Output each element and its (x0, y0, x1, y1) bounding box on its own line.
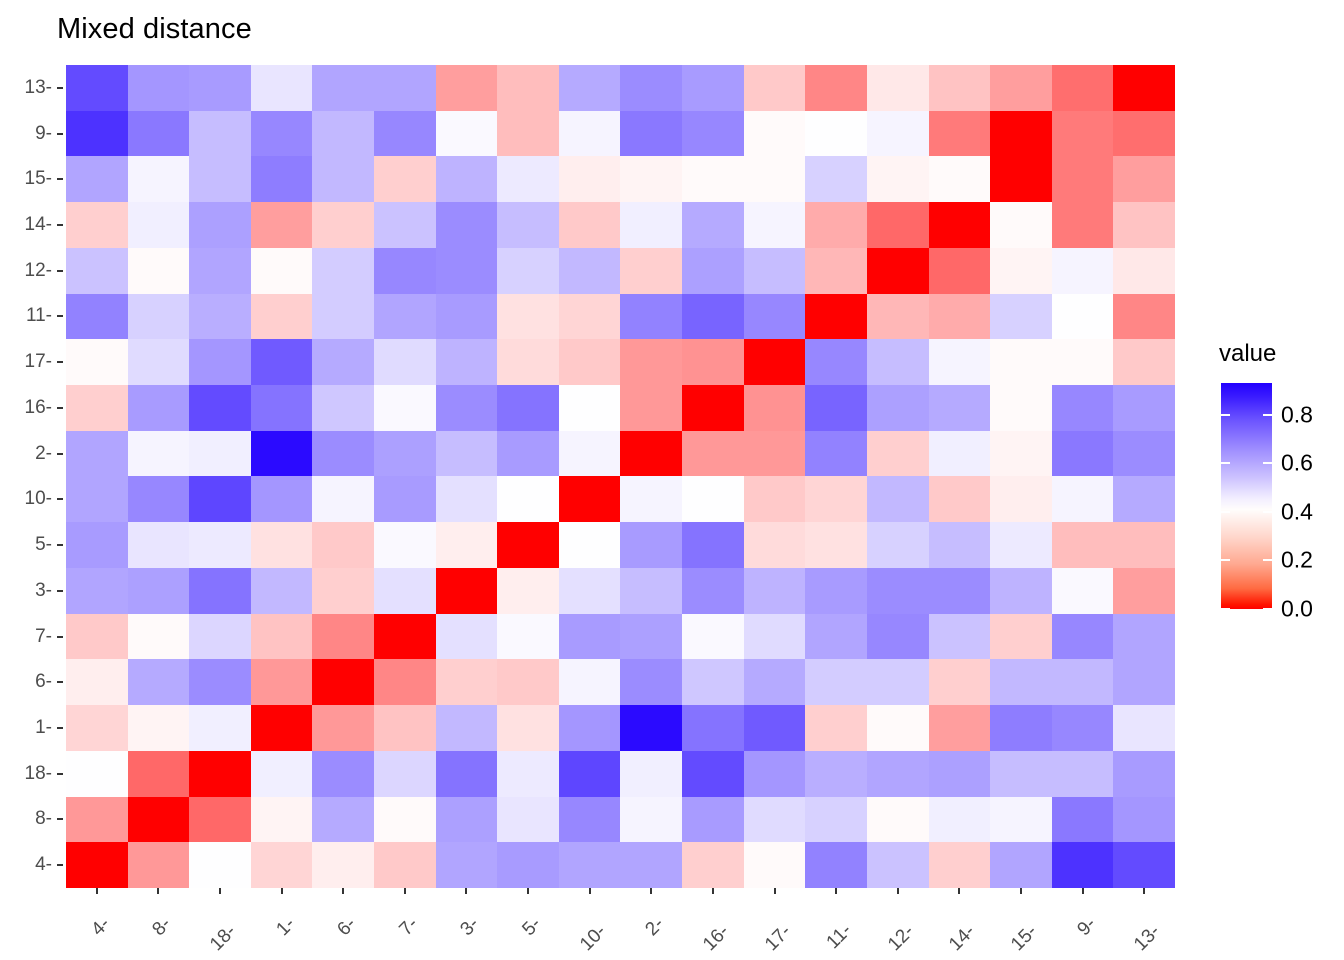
heatmap-cell (1052, 568, 1114, 614)
heatmap-cell (436, 568, 498, 614)
heatmap-cell (1052, 659, 1114, 705)
heatmap-cell (805, 705, 867, 751)
heatmap-cell (251, 294, 313, 340)
x-axis-tick: 3- (436, 888, 498, 960)
heatmap-cell (620, 751, 682, 797)
heatmap-cell (990, 705, 1052, 751)
heatmap-cell (251, 385, 313, 431)
heatmap-cell (1052, 339, 1114, 385)
x-axis-tick-mark (774, 888, 776, 894)
y-axis-tick-mark (57, 636, 63, 638)
heatmap-cell (682, 202, 744, 248)
heatmap-cell (620, 156, 682, 202)
heatmap-cell (312, 339, 374, 385)
heatmap-cell (312, 248, 374, 294)
heatmap-cell (1052, 797, 1114, 843)
heatmap-cell (1113, 659, 1175, 705)
heatmap-cell (128, 431, 190, 477)
heatmap-cell (1113, 476, 1175, 522)
legend-colorbar (1221, 383, 1272, 609)
x-axis-tick: 7- (374, 888, 436, 960)
heatmap-cell (620, 202, 682, 248)
y-axis-tick-label: 12- (25, 260, 57, 282)
heatmap-cell (189, 522, 251, 568)
heatmap-cell (744, 111, 806, 157)
heatmap-cell (251, 202, 313, 248)
x-axis-tick-mark (835, 888, 837, 894)
heatmap-cell (990, 476, 1052, 522)
heatmap-cell (374, 385, 436, 431)
heatmap-cell (128, 156, 190, 202)
heatmap-cell (497, 522, 559, 568)
x-axis-tick-mark (527, 888, 529, 894)
y-axis-tick-mark (57, 133, 63, 135)
legend-tick-mark (1221, 511, 1230, 513)
y-axis-tick: 15- (0, 156, 66, 202)
heatmap-cell (312, 294, 374, 340)
y-axis-tick-mark (57, 315, 63, 317)
heatmap-cell (436, 522, 498, 568)
heatmap-cell (559, 202, 621, 248)
y-axis-tick-label: 17- (25, 351, 57, 373)
heatmap-cell (128, 202, 190, 248)
heatmap-cell (682, 294, 744, 340)
heatmap-cell (1113, 339, 1175, 385)
heatmap-cell (497, 385, 559, 431)
legend-tick-label: 0.4 (1281, 498, 1313, 525)
heatmap-cell (990, 248, 1052, 294)
x-axis-tick: 10- (559, 888, 621, 960)
heatmap-cell (312, 568, 374, 614)
heatmap-cell (805, 202, 867, 248)
heatmap-cell (251, 156, 313, 202)
x-axis-tick-label: 9- (1084, 900, 1112, 928)
heatmap-cell (559, 797, 621, 843)
heatmap-cell (867, 751, 929, 797)
heatmap-cell (189, 385, 251, 431)
heatmap-cell (559, 659, 621, 705)
heatmap-cell (374, 568, 436, 614)
heatmap-cell (251, 431, 313, 477)
x-axis-tick-mark (897, 888, 899, 894)
heatmap-cell (374, 476, 436, 522)
y-axis-tick-label: 15- (25, 168, 57, 190)
heatmap-cell (436, 111, 498, 157)
y-axis-tick: 13- (0, 65, 66, 111)
y-axis-tick-mark (57, 453, 63, 455)
heatmap-cell (805, 659, 867, 705)
heatmap-cell (312, 614, 374, 660)
heatmap-cell (805, 156, 867, 202)
heatmap-cell (374, 111, 436, 157)
x-axis-tick-mark (219, 888, 221, 894)
heatmap-cell (1113, 431, 1175, 477)
heatmap-cell (620, 385, 682, 431)
heatmap-cell (497, 476, 559, 522)
heatmap-cell (620, 522, 682, 568)
heatmap-cell (929, 659, 991, 705)
heatmap-cell (559, 339, 621, 385)
heatmap-cell (251, 65, 313, 111)
heatmap-cell (559, 111, 621, 157)
x-axis-tick-mark (281, 888, 283, 894)
x-axis-tick-mark (1143, 888, 1145, 894)
heatmap-cell (929, 111, 991, 157)
y-axis-tick: 5- (0, 522, 66, 568)
heatmap-cell (620, 614, 682, 660)
heatmap-cell (436, 431, 498, 477)
heatmap-cell (436, 202, 498, 248)
heatmap-cell (559, 842, 621, 888)
y-axis-tick: 10- (0, 477, 66, 523)
heatmap-cell (436, 614, 498, 660)
heatmap-cell (744, 156, 806, 202)
heatmap-cell (620, 842, 682, 888)
x-axis-tick-mark (650, 888, 652, 894)
heatmap-cell (128, 751, 190, 797)
heatmap-cell (66, 248, 128, 294)
legend: value 0.80.60.40.20.0 (1205, 340, 1344, 630)
heatmap-cell (312, 659, 374, 705)
heatmap-cell (128, 294, 190, 340)
heatmap-cell (682, 431, 744, 477)
heatmap-cell (682, 659, 744, 705)
y-axis-tick-mark (57, 178, 63, 180)
heatmap-cell (251, 842, 313, 888)
y-axis-tick: 18- (0, 751, 66, 797)
heatmap-cell (1052, 476, 1114, 522)
y-axis-tick: 17- (0, 339, 66, 385)
y-axis-tick-mark (57, 270, 63, 272)
x-axis-tick: 12- (867, 888, 929, 960)
legend-tick-mark (1263, 462, 1272, 464)
heatmap-cell (128, 659, 190, 705)
legend-tick-label: 0.6 (1281, 450, 1313, 477)
x-axis-tick-mark (712, 888, 714, 894)
heatmap-cell (744, 568, 806, 614)
heatmap-cell (990, 202, 1052, 248)
heatmap-cell (990, 431, 1052, 477)
heatmap-cell (436, 156, 498, 202)
x-axis-tick-mark (958, 888, 960, 894)
heatmap-cell (189, 156, 251, 202)
x-axis: 4-8-18-1-6-7-3-5-10-2-16-17-11-12-14-15-… (66, 888, 1175, 960)
heatmap-cell (867, 294, 929, 340)
heatmap-cell (436, 751, 498, 797)
heatmap-cell (1113, 705, 1175, 751)
heatmap-cell (1113, 202, 1175, 248)
heatmap-cell (867, 202, 929, 248)
heatmap-cell (128, 797, 190, 843)
heatmap-cell (620, 339, 682, 385)
heatmap-cell (1113, 568, 1175, 614)
heatmap-cell (66, 522, 128, 568)
heatmap-cell (251, 111, 313, 157)
y-axis-tick-mark (57, 727, 63, 729)
y-axis-tick-label: 4- (35, 854, 57, 876)
heatmap-cell (1052, 156, 1114, 202)
x-axis-tick: 13- (1113, 888, 1175, 960)
heatmap-cell (251, 476, 313, 522)
heatmap-cell (66, 294, 128, 340)
y-axis-tick: 2- (0, 431, 66, 477)
x-axis-tick-label: 5- (529, 900, 557, 928)
y-axis-tick-label: 5- (35, 534, 57, 556)
heatmap-cell (620, 568, 682, 614)
heatmap-cell (559, 751, 621, 797)
y-axis-tick-label: 18- (25, 763, 57, 785)
y-axis-tick-mark (57, 87, 63, 89)
heatmap-cell (436, 65, 498, 111)
heatmap-cell (929, 614, 991, 660)
heatmap-cell (682, 476, 744, 522)
x-axis-tick-mark (1020, 888, 1022, 894)
heatmap-cell (682, 751, 744, 797)
heatmap-cell (189, 65, 251, 111)
heatmap-cell (867, 65, 929, 111)
heatmap-cell (374, 202, 436, 248)
heatmap-cell (744, 797, 806, 843)
heatmap-cell (867, 568, 929, 614)
x-axis-tick-mark (404, 888, 406, 894)
heatmap-cell (497, 431, 559, 477)
x-axis-tick: 1- (251, 888, 313, 960)
heatmap-cell (867, 431, 929, 477)
heatmap-cell (990, 614, 1052, 660)
heatmap-cell (189, 751, 251, 797)
heatmap-cell (1052, 751, 1114, 797)
heatmap-cell (312, 842, 374, 888)
y-axis-tick-mark (57, 818, 63, 820)
heatmap-cell (929, 522, 991, 568)
heatmap-cell (805, 842, 867, 888)
heatmap-cell (312, 156, 374, 202)
heatmap-cell (128, 705, 190, 751)
heatmap-cell (744, 522, 806, 568)
x-axis-tick-mark (342, 888, 344, 894)
heatmap-cell (682, 156, 744, 202)
heatmap-cell (1052, 522, 1114, 568)
heatmap-cell (66, 797, 128, 843)
heatmap-cell (1113, 522, 1175, 568)
heatmap-cell (251, 339, 313, 385)
heatmap-cell (497, 339, 559, 385)
heatmap-cell (66, 568, 128, 614)
heatmap-cell (990, 659, 1052, 705)
heatmap-cell (128, 111, 190, 157)
heatmap-cell (312, 111, 374, 157)
x-axis-tick: 6- (312, 888, 374, 960)
heatmap-cell (867, 111, 929, 157)
heatmap-cell (682, 568, 744, 614)
heatmap-cell (497, 614, 559, 660)
heatmap-cell (436, 659, 498, 705)
heatmap-cell (929, 65, 991, 111)
legend-tick-mark (1221, 608, 1230, 610)
y-axis-tick: 12- (0, 248, 66, 294)
x-axis-tick: 15- (990, 888, 1052, 960)
heatmap-cell (559, 248, 621, 294)
heatmap-cell (682, 522, 744, 568)
heatmap-cell (867, 476, 929, 522)
heatmap-cell (66, 842, 128, 888)
x-axis-tick: 14- (929, 888, 991, 960)
heatmap-cell (251, 248, 313, 294)
heatmap-cell (682, 797, 744, 843)
heatmap-cell (1113, 385, 1175, 431)
heatmap-cell (867, 339, 929, 385)
heatmap-cell (559, 156, 621, 202)
x-axis-tick: 4- (66, 888, 128, 960)
x-axis-tick-mark (465, 888, 467, 894)
heatmap-cell (497, 65, 559, 111)
heatmap-cell (1113, 65, 1175, 111)
heatmap-cell (805, 568, 867, 614)
heatmap-cell (929, 797, 991, 843)
y-axis-tick-label: 13- (25, 77, 57, 99)
x-axis-tick: 18- (189, 888, 251, 960)
heatmap-cell (374, 431, 436, 477)
heatmap-cell (189, 842, 251, 888)
legend-tick-label: 0.0 (1281, 596, 1313, 623)
heatmap-cell (744, 385, 806, 431)
heatmap-cell (436, 385, 498, 431)
heatmap-cell (497, 751, 559, 797)
heatmap-cell (374, 248, 436, 294)
heatmap-cell (682, 385, 744, 431)
heatmap-cell (867, 797, 929, 843)
x-axis-tick: 8- (128, 888, 190, 960)
heatmap-cell (189, 797, 251, 843)
x-axis-tick: 16- (682, 888, 744, 960)
heatmap-cell (805, 431, 867, 477)
heatmap-cell (189, 248, 251, 294)
heatmap-cell (66, 614, 128, 660)
x-axis-tick: 17- (744, 888, 806, 960)
y-axis-tick-mark (57, 498, 63, 500)
heatmap-cell (929, 842, 991, 888)
y-axis-tick: 16- (0, 385, 66, 431)
heatmap-cell (374, 842, 436, 888)
y-axis-tick-mark (57, 590, 63, 592)
heatmap-cell (189, 568, 251, 614)
heatmap-cell (251, 568, 313, 614)
heatmap-cell (251, 705, 313, 751)
heatmap-cell (867, 705, 929, 751)
heatmap-cell (744, 614, 806, 660)
heatmap-cell (1113, 842, 1175, 888)
heatmap-cell (929, 568, 991, 614)
heatmap-cell (374, 614, 436, 660)
heatmap-cell (1052, 202, 1114, 248)
heatmap-figure: Mixed distance 13-9-15-14-12-11-17-16-2-… (0, 0, 1344, 960)
heatmap-cell (744, 431, 806, 477)
x-axis-tick-label: 8- (159, 900, 187, 928)
y-axis-tick-mark (57, 773, 63, 775)
heatmap-cell (436, 842, 498, 888)
legend-tick-mark (1263, 511, 1272, 513)
heatmap-cell (189, 705, 251, 751)
heatmap-cell (929, 751, 991, 797)
y-axis-tick-mark (57, 407, 63, 409)
heatmap-cell (805, 294, 867, 340)
heatmap-cell (1113, 248, 1175, 294)
heatmap-cell (929, 156, 991, 202)
y-axis-tick: 6- (0, 659, 66, 705)
y-axis-tick: 9- (0, 111, 66, 157)
heatmap-cell (374, 522, 436, 568)
legend-tick-mark (1221, 559, 1230, 561)
y-axis-tick-label: 14- (25, 214, 57, 236)
heatmap-cell (436, 339, 498, 385)
heatmap-cell (990, 568, 1052, 614)
heatmap-cell (66, 385, 128, 431)
heatmap-cell (929, 294, 991, 340)
heatmap-cell (620, 659, 682, 705)
heatmap-cell (682, 842, 744, 888)
y-axis-tick-label: 6- (35, 671, 57, 693)
heatmap-cell (682, 248, 744, 294)
heatmap-cell (497, 202, 559, 248)
x-axis-tick-label: 3- (467, 900, 495, 928)
heatmap-cell (374, 751, 436, 797)
heatmap-cell (128, 339, 190, 385)
heatmap-cell (929, 339, 991, 385)
heatmap-cell (189, 659, 251, 705)
heatmap-cell (497, 294, 559, 340)
heatmap-cell (66, 339, 128, 385)
heatmap-cell (744, 476, 806, 522)
heatmap-cell (128, 248, 190, 294)
heatmap-cell (744, 339, 806, 385)
y-axis-tick-label: 16- (25, 397, 57, 419)
heatmap-cell (867, 385, 929, 431)
heatmap-cell (990, 339, 1052, 385)
heatmap-cell (805, 614, 867, 660)
heatmap-cell (1113, 156, 1175, 202)
legend-tick-mark (1263, 608, 1272, 610)
heatmap-cell (251, 751, 313, 797)
heatmap-cell (312, 385, 374, 431)
heatmap-cell (744, 294, 806, 340)
heatmap-cell (312, 65, 374, 111)
y-axis-tick-label: 2- (35, 443, 57, 465)
heatmap-cell (128, 385, 190, 431)
heatmap-cell (805, 111, 867, 157)
heatmap-grid (66, 65, 1175, 888)
x-axis-tick: 11- (805, 888, 867, 960)
x-axis-tick-mark (96, 888, 98, 894)
heatmap-cell (189, 431, 251, 477)
heatmap-cell (929, 476, 991, 522)
heatmap-cell (312, 202, 374, 248)
heatmap-cell (990, 797, 1052, 843)
heatmap-cell (620, 65, 682, 111)
heatmap-cell (189, 476, 251, 522)
y-axis-tick: 1- (0, 705, 66, 751)
heatmap-cell (436, 476, 498, 522)
heatmap-cell (128, 65, 190, 111)
heatmap-cell (66, 431, 128, 477)
heatmap-cell (620, 431, 682, 477)
heatmap-cell (559, 705, 621, 751)
heatmap-cell (497, 248, 559, 294)
heatmap-cell (497, 568, 559, 614)
y-axis-tick: 4- (0, 842, 66, 888)
heatmap-cell (682, 65, 744, 111)
heatmap-cell (66, 659, 128, 705)
heatmap-cell (1052, 111, 1114, 157)
